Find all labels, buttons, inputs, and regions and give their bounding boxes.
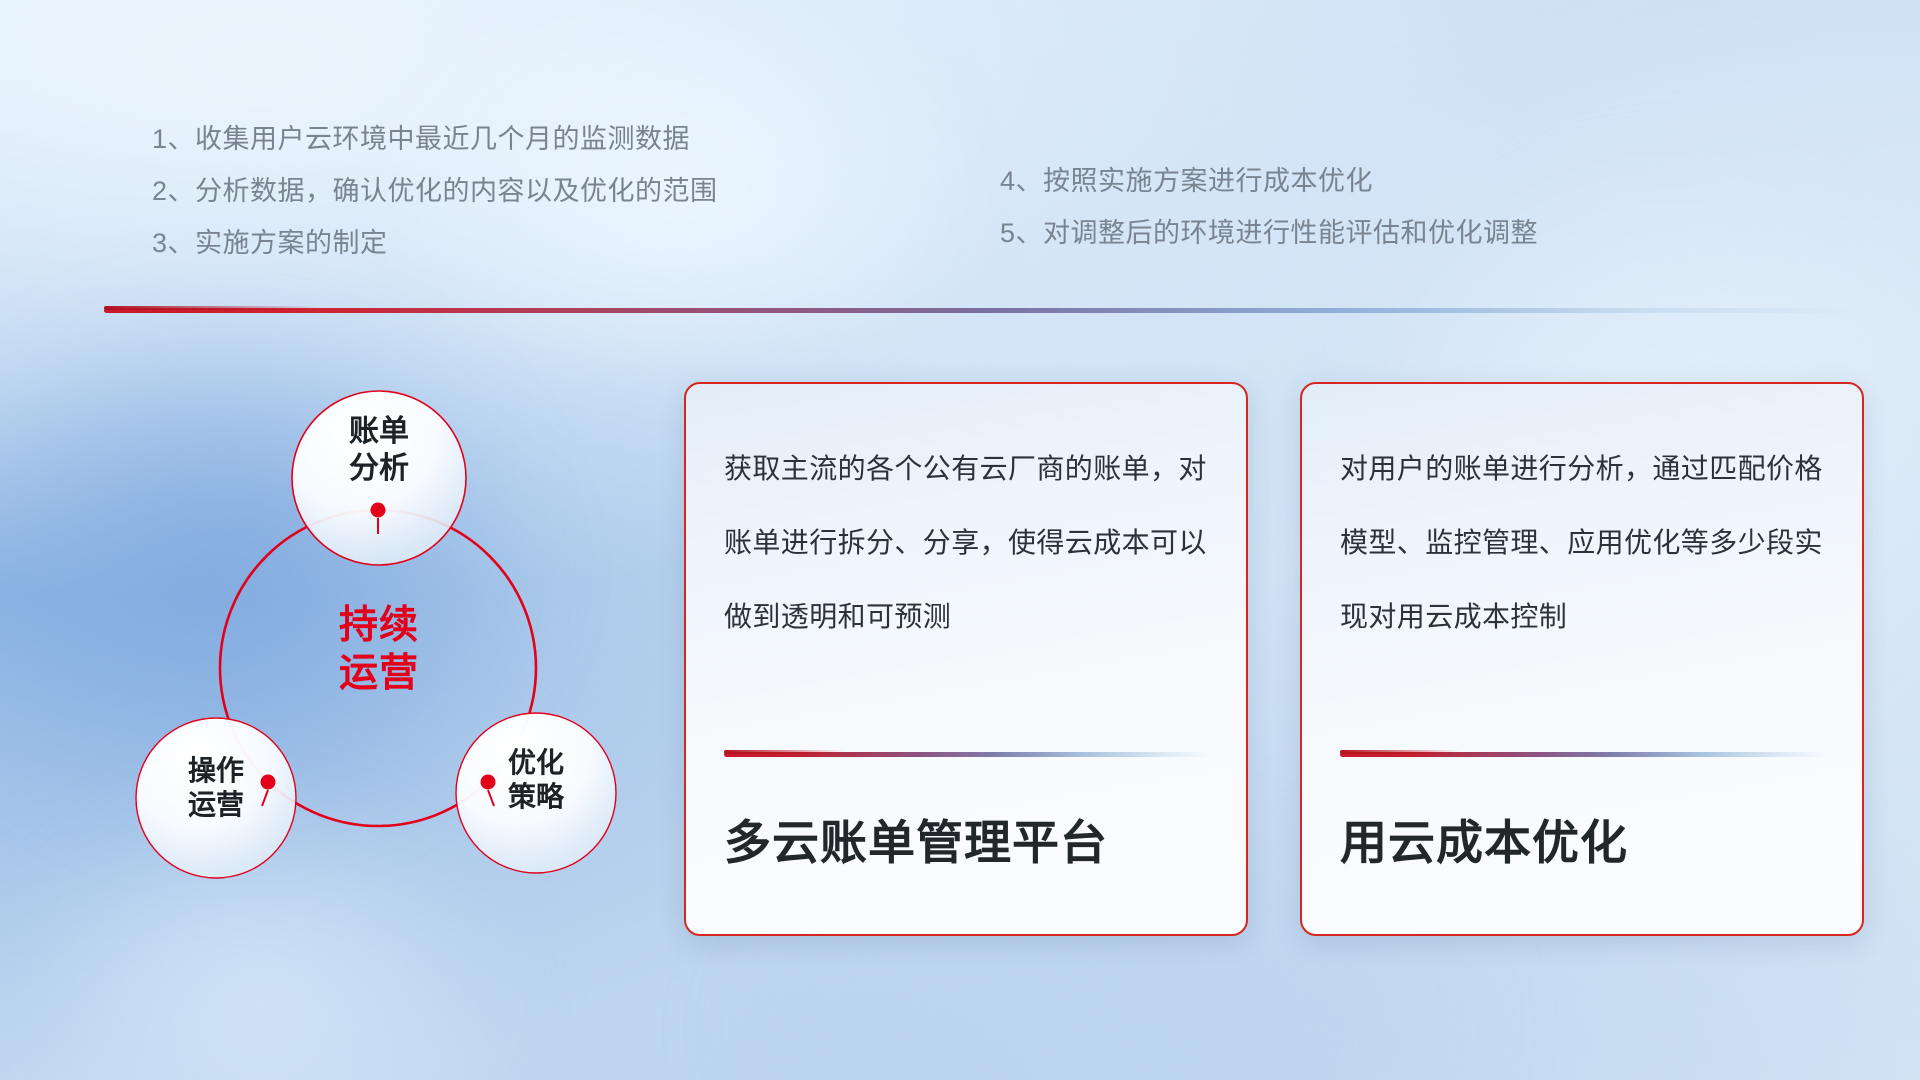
venn-bubble-bottom-right bbox=[456, 713, 616, 873]
steps-right-column: 4、按照实施方案进行成本优化 5、对调整后的环境进行性能评估和优化调整 bbox=[1000, 155, 1538, 259]
step-item-4: 4、按照实施方案进行成本优化 bbox=[1000, 155, 1538, 207]
venn-bubble-bottom-left bbox=[136, 718, 296, 878]
venn-svg bbox=[96, 348, 626, 938]
card-multicloud-billing[interactable]: 获取主流的各个公有云厂商的账单，对账单进行拆分、分享，使得云成本可以做到透明和可… bbox=[684, 382, 1248, 936]
venn-node-dot-bottom-right bbox=[481, 775, 496, 790]
venn-diagram: 账单 分析 持续 运营 操作 运营 优化 策略 bbox=[96, 348, 626, 938]
card-divider-rule bbox=[1340, 752, 1828, 757]
step-item-3: 3、实施方案的制定 bbox=[152, 217, 718, 269]
card-divider-rule bbox=[724, 752, 1212, 757]
venn-bubble-top bbox=[292, 391, 466, 565]
section-divider-rule bbox=[104, 308, 1864, 313]
card-body-text: 对用户的账单进行分析，通过匹配价格模型、监控管理、应用优化等多少段实现对用云成本… bbox=[1340, 432, 1828, 654]
step-item-2: 2、分析数据，确认优化的内容以及优化的范围 bbox=[152, 165, 718, 217]
card-title: 多云账单管理平台 bbox=[724, 804, 1216, 873]
card-body-text: 获取主流的各个公有云厂商的账单，对账单进行拆分、分享，使得云成本可以做到透明和可… bbox=[724, 432, 1212, 654]
card-cloud-cost-optimization[interactable]: 对用户的账单进行分析，通过匹配价格模型、监控管理、应用优化等多少段实现对用云成本… bbox=[1300, 382, 1864, 936]
venn-node-dot-bottom-left bbox=[261, 775, 276, 790]
venn-node-dot-top bbox=[371, 503, 386, 518]
step-item-5: 5、对调整后的环境进行性能评估和优化调整 bbox=[1000, 207, 1538, 259]
card-title: 用云成本优化 bbox=[1340, 804, 1832, 873]
slide-canvas: 1、收集用户云环境中最近几个月的监测数据 2、分析数据，确认优化的内容以及优化的… bbox=[0, 0, 1920, 1080]
step-item-1: 1、收集用户云环境中最近几个月的监测数据 bbox=[152, 113, 718, 165]
steps-left-column: 1、收集用户云环境中最近几个月的监测数据 2、分析数据，确认优化的内容以及优化的… bbox=[152, 113, 718, 269]
